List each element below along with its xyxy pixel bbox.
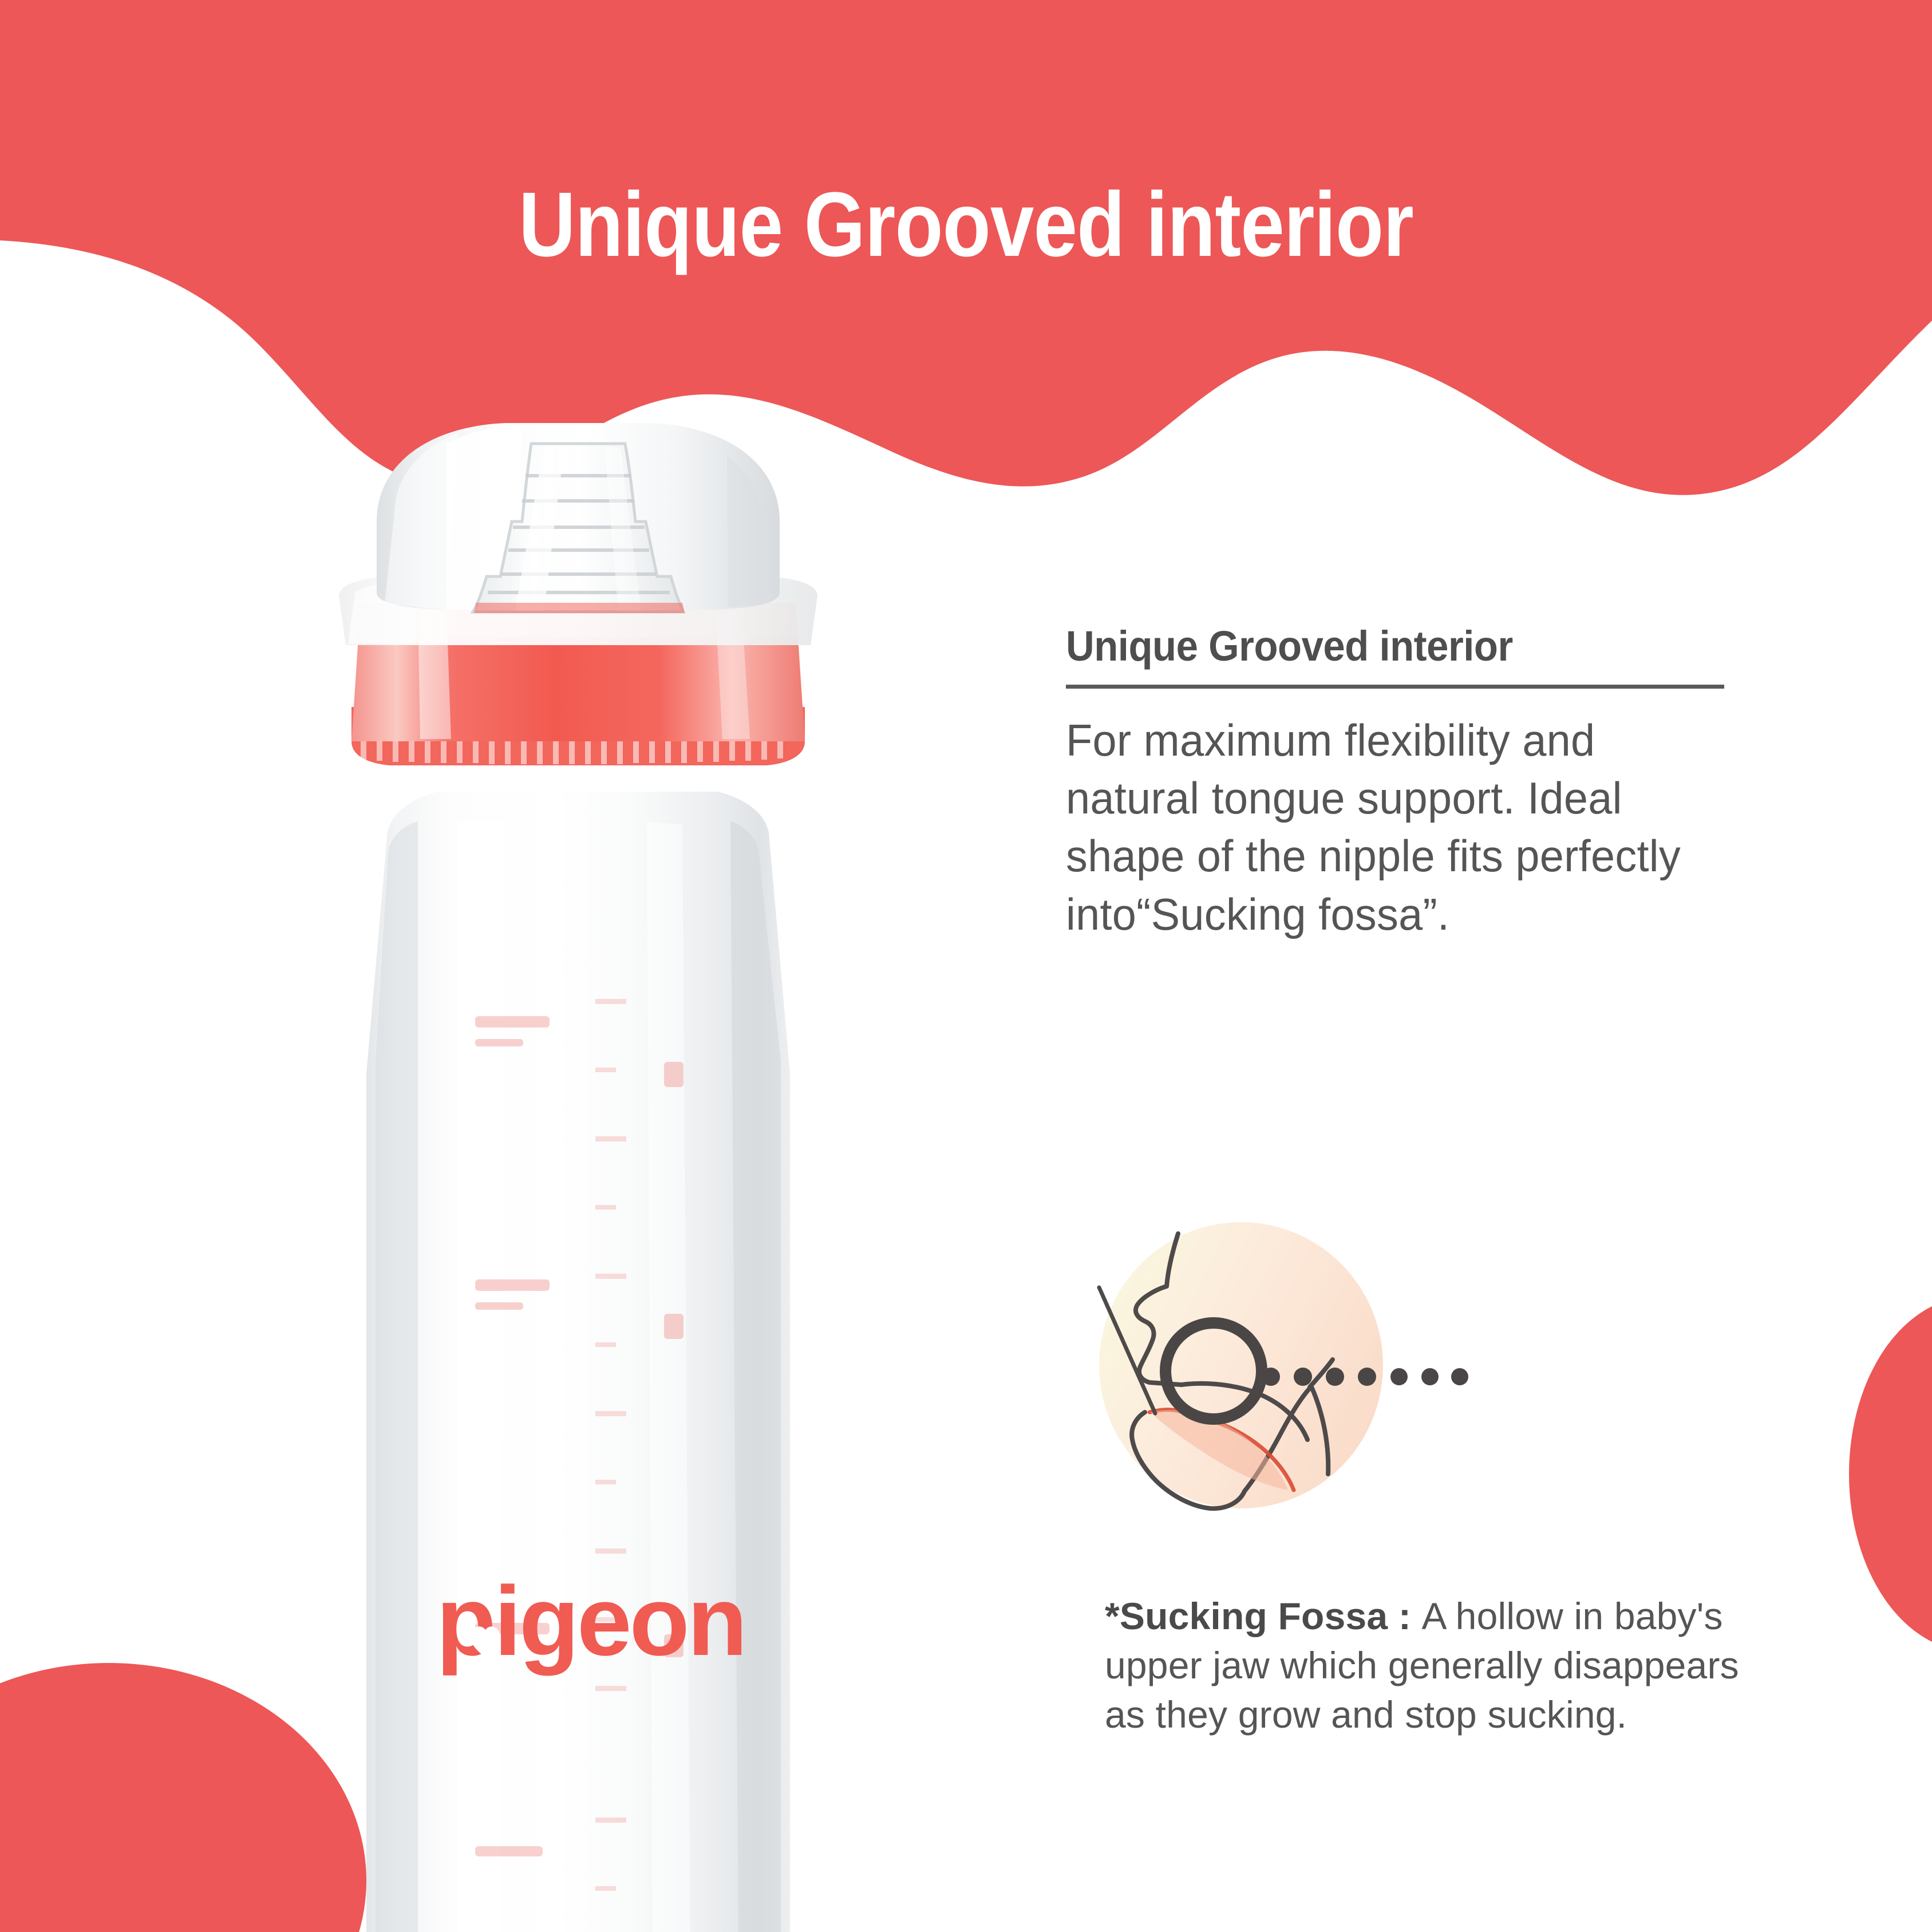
feature-info-column: Unique Grooved interior For maximum flex… — [1066, 624, 1741, 943]
footnote-term: *Sucking Fossa : — [1105, 1595, 1422, 1637]
pigeon-logo: pigeon — [436, 1566, 745, 1676]
sucking-fossa-footnote: *Sucking Fossa : A hollow in baby's uppe… — [1105, 1592, 1769, 1739]
heading-divider — [1066, 685, 1724, 689]
bottle-body — [366, 792, 790, 1932]
feature-heading: Unique Grooved interior — [1066, 624, 1694, 669]
infographic-canvas: Unique Grooved interior — [0, 0, 1932, 1932]
baby-head-diagram — [1069, 1188, 1470, 1543]
page-title: Unique Grooved interior — [135, 179, 1797, 270]
svg-text:pigeon: pigeon — [436, 1566, 745, 1676]
feature-body-text: For maximum flexibility and natural tong… — [1066, 712, 1721, 944]
product-image-bottle: pigeon — [275, 421, 882, 1932]
bottle-illustration: pigeon — [275, 421, 882, 1932]
sucking-fossa-illustration — [1069, 1188, 1470, 1543]
decorative-blob-right — [1849, 1297, 1932, 1652]
